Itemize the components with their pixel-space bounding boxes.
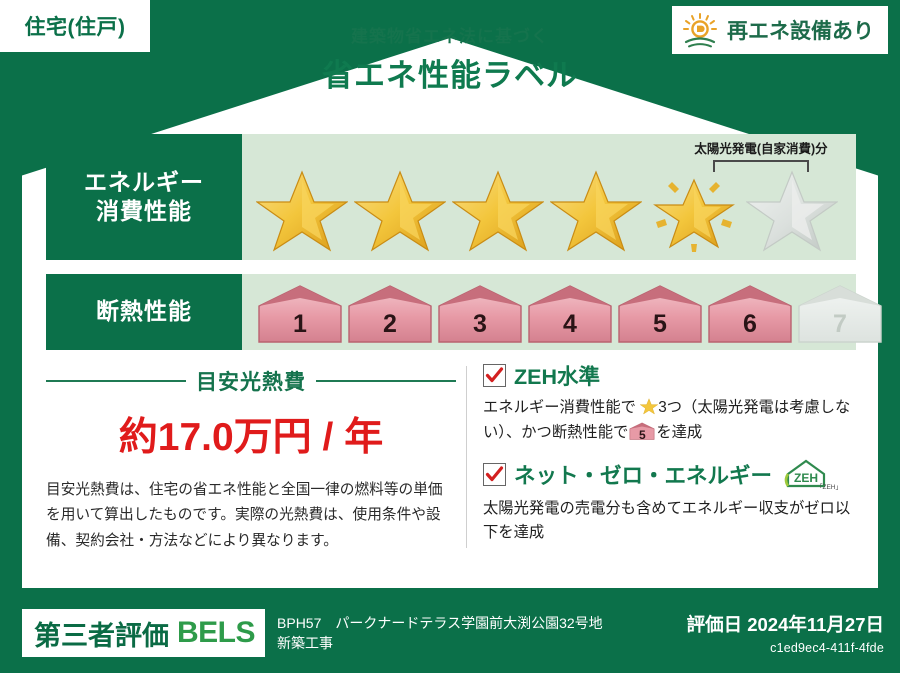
insulation-grade-number: 4 — [526, 310, 614, 339]
insulation-grade-active: 2 — [346, 284, 434, 346]
insulation-grade-scale: 1 2 3 — [256, 284, 884, 346]
insulation-grade-active: 4 — [526, 284, 614, 346]
insulation-performance-label-text: 断熱性能 — [96, 297, 192, 326]
zeh-standard-heading: ZEH水準 — [483, 360, 856, 391]
insulation-grade-number: 2 — [346, 310, 434, 339]
svg-text:ZEH: ZEH — [794, 471, 818, 485]
project-info: BPH57 パークナードテラス学園前大渕公園32号地 新築工事 — [277, 613, 603, 654]
zeh-standard-desc-pre: エネルギー消費性能で — [483, 399, 636, 416]
energy-performance-label: エネルギー 消費性能 — [46, 134, 242, 260]
project-name-line2: 新築工事 — [277, 633, 603, 653]
insulation-performance-panel: 1 2 3 — [242, 274, 856, 350]
insulation-performance-row: 断熱性能 1 — [46, 274, 856, 350]
footer-bar: 第三者評価 BELS BPH57 パークナードテラス学園前大渕公園32号地 新築… — [0, 593, 900, 673]
check-icon — [485, 366, 504, 385]
insulation-grade-number: 1 — [256, 310, 344, 339]
solar-annotation-label: 太陽光発電(自家消費)分 — [646, 138, 876, 157]
net-zero-energy-heading: ネット・ゼロ・エネルギー ZEH 「ZEH」 — [483, 458, 856, 492]
zeh-standard-description: エネルギー消費性能で 3つ（太陽光発電は考慮しない）、かつ断熱性能で 5 を達成 — [483, 396, 856, 446]
zeh-standard-title: ZEH水準 — [514, 360, 600, 391]
zeh-logo-icon: ZEH 「ZEH」 — [780, 458, 838, 492]
insulation-grade-number: 3 — [436, 310, 524, 339]
energy-performance-label-line2: 消費性能 — [96, 197, 192, 226]
house-type-label: 住宅(住戸) — [25, 11, 126, 41]
check-icon — [485, 465, 504, 484]
heading-rule-right — [316, 380, 456, 382]
bels-certification-badge: 第三者評価 BELS — [22, 609, 265, 657]
energy-performance-panel: 太陽光発電(自家消費)分 — [242, 134, 856, 260]
insulation-grade-number: 7 — [796, 310, 884, 339]
insulation-performance-label: 断熱性能 — [46, 274, 242, 350]
project-name-line1: BPH57 パークナードテラス学園前大渕公園32号地 — [277, 613, 603, 633]
house-type-badge: 住宅(住戸) — [0, 0, 150, 52]
energy-star-rating — [242, 166, 856, 252]
star-icon-inline — [640, 397, 658, 415]
column-divider — [466, 366, 467, 548]
checkbox-checked[interactable] — [483, 364, 506, 387]
checkbox-checked[interactable] — [483, 463, 506, 486]
energy-performance-row: エネルギー 消費性能 太陽光発電(自家消費)分 — [46, 134, 856, 260]
svg-text:「ZEH」: 「ZEH」 — [816, 483, 838, 491]
utility-cost-column: 目安光熱費 約17.0万円 / 年 目安光熱費は、住宅の省エネ性能と全国一律の燃… — [46, 360, 466, 558]
utility-cost-note: 目安光熱費は、住宅の省エネ性能と全国一律の燃料等の単価を用いて算出したものです。… — [46, 478, 456, 554]
star-filled — [452, 166, 544, 252]
utility-cost-heading: 目安光熱費 — [46, 366, 456, 396]
lower-details: 目安光熱費 約17.0万円 / 年 目安光熱費は、住宅の省エネ性能と全国一律の燃… — [46, 360, 856, 558]
third-party-label: 第三者評価 — [34, 614, 169, 653]
net-zero-energy-description: 太陽光発電の売電分も含めてエネルギー収支がゼロ以下を達成 — [483, 497, 856, 547]
star-filled — [354, 166, 446, 252]
sun-solar-icon — [680, 12, 720, 48]
bels-label: BELS — [177, 616, 255, 650]
insulation-grade-inline: 5 — [629, 422, 655, 441]
zeh-standard-desc-post: を達成 — [656, 424, 702, 441]
utility-cost-heading-text: 目安光熱費 — [196, 366, 306, 396]
utility-cost-value: 約17.0万円 / 年 — [46, 406, 456, 462]
insulation-grade-active: 6 — [706, 284, 794, 346]
star-filled — [550, 166, 642, 252]
renewable-equipment-label: 再エネ設備あり — [727, 15, 874, 45]
evaluation-date: 評価日 2024年11月27日 — [687, 611, 884, 637]
zeh-standard-block: ZEH水準 エネルギー消費性能で 3つ（太陽光発電は考慮しない）、かつ断熱性能で… — [483, 360, 856, 446]
record-id: c1ed9ec4-411f-4fde — [687, 641, 884, 655]
star-filled-solar — [648, 166, 740, 252]
star-empty — [746, 166, 838, 252]
zeh-criteria-column: ZEH水準 エネルギー消費性能で 3つ（太陽光発電は考慮しない）、かつ断熱性能で… — [483, 360, 856, 558]
heading-rule-left — [46, 380, 186, 382]
insulation-grade-inactive: 7 — [796, 284, 884, 346]
insulation-grade-number: 6 — [706, 310, 794, 339]
insulation-grade-active: 3 — [436, 284, 524, 346]
evaluation-info: 評価日 2024年11月27日 c1ed9ec4-411f-4fde — [687, 611, 884, 655]
insulation-grade-inline-number: 5 — [629, 426, 655, 445]
renewable-equipment-badge: 再エネ設備あり — [672, 6, 888, 54]
performance-rows: エネルギー 消費性能 太陽光発電(自家消費)分 — [46, 134, 856, 350]
net-zero-energy-title: ネット・ゼロ・エネルギー — [514, 459, 772, 490]
insulation-grade-active: 1 — [256, 284, 344, 346]
star-filled — [256, 166, 348, 252]
net-zero-energy-block: ネット・ゼロ・エネルギー ZEH 「ZEH」 太陽光発電の売電分も含めてエネルギ… — [483, 458, 856, 547]
energy-performance-label-line1: エネルギー — [84, 168, 204, 197]
insulation-grade-number: 5 — [616, 310, 704, 339]
insulation-grade-active: 5 — [616, 284, 704, 346]
page-title: 省エネ性能ラベル — [0, 50, 900, 95]
